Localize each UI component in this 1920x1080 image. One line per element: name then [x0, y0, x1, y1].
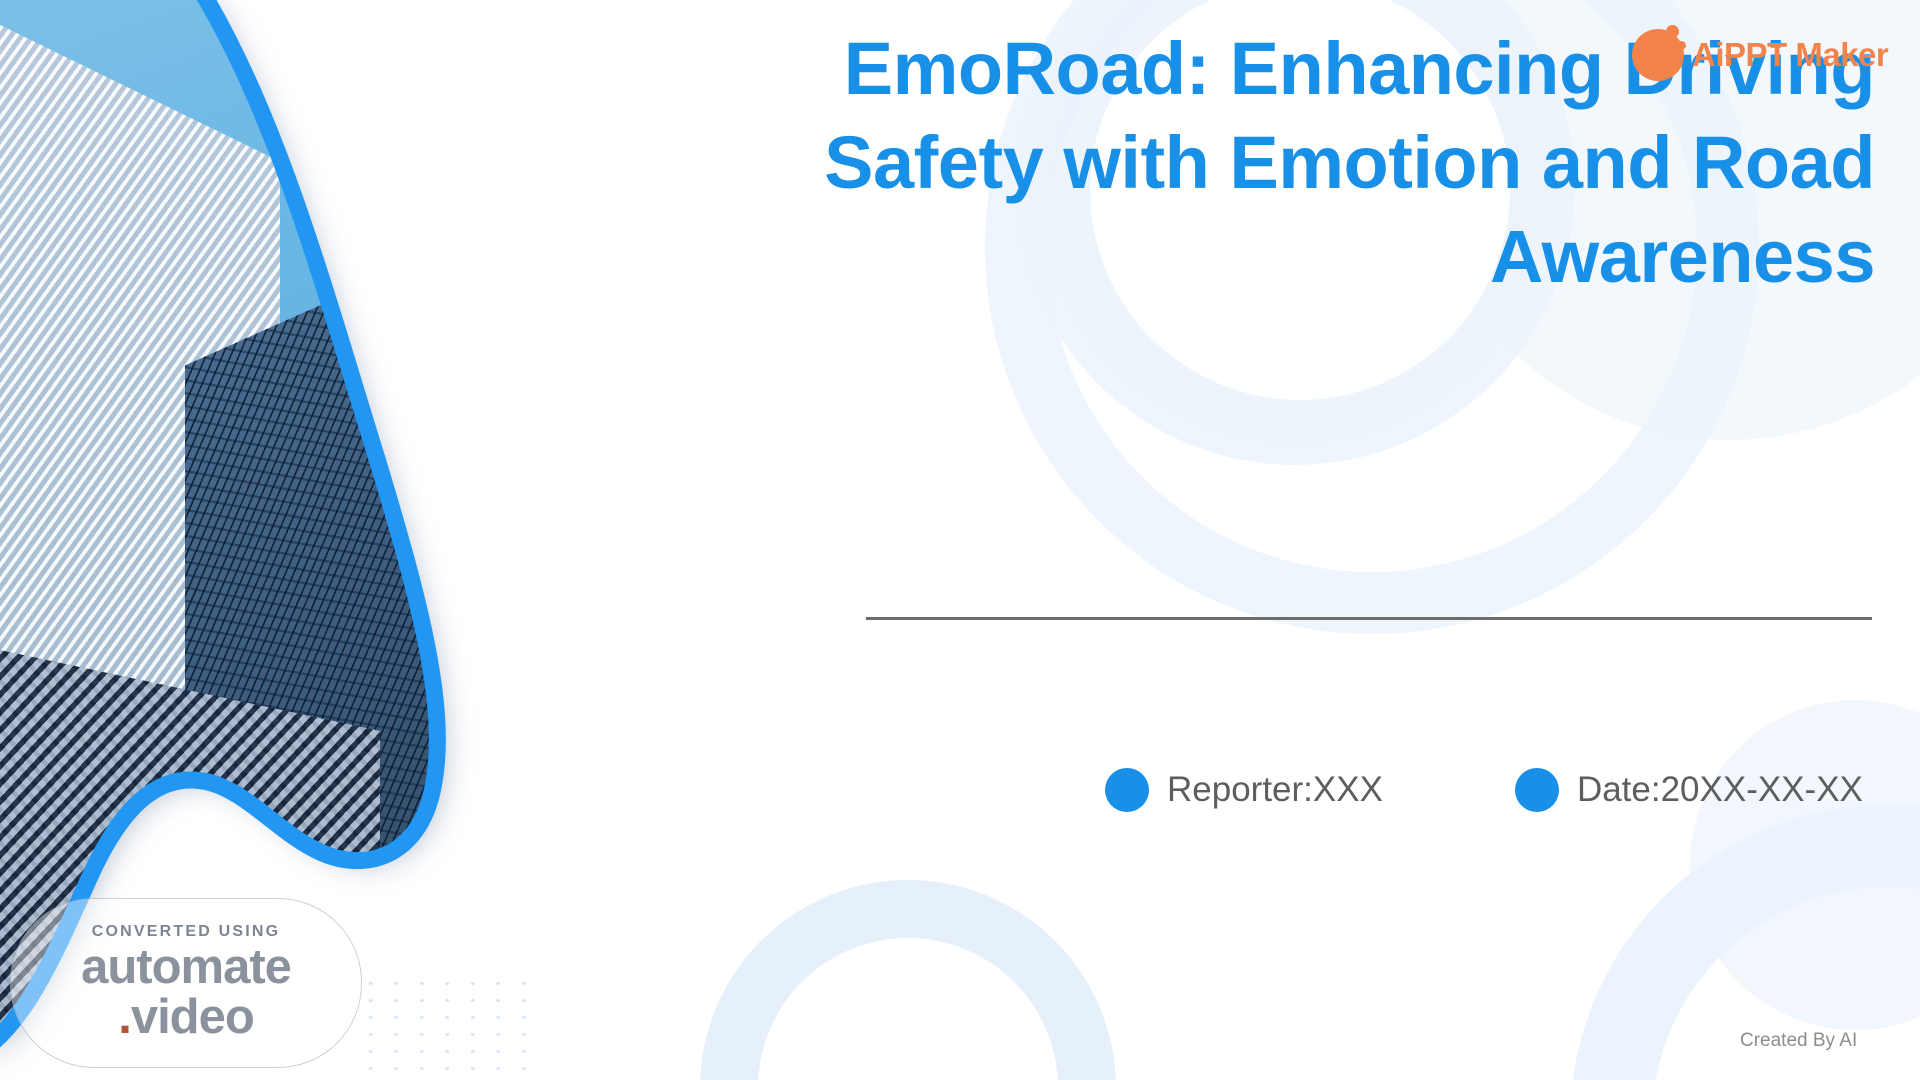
blue-bullet-icon [1105, 768, 1149, 812]
aippt-maker-logo[interactable]: AiPPT Maker [1632, 24, 1912, 86]
reporter-label: Reporter:XXX [1167, 770, 1383, 810]
created-by-label: Created By AI [1740, 1030, 1857, 1052]
automate-video-watermark: CONVERTED USING automate .video [10, 898, 362, 1068]
title-slide: EmoRoad: Enhancing Driving Safety with E… [0, 0, 1920, 1080]
watermark-suffix-text: video [131, 990, 254, 1044]
date-backdrop-blob [1690, 700, 1920, 1030]
orange-circle-dots-icon [1632, 27, 1688, 83]
date-label: Date:20XX-XX-XX [1577, 770, 1863, 810]
date-field: Date:20XX-XX-XX [1515, 768, 1863, 812]
watermark-dot: . [118, 990, 131, 1044]
watermark-caption: CONVERTED USING [92, 923, 281, 941]
logo-label: AiPPT Maker [1692, 36, 1888, 74]
reporter-field: Reporter:XXX [1105, 768, 1383, 812]
blue-bullet-icon [1515, 768, 1559, 812]
presentation-meta: Reporter:XXX Date:20XX-XX-XX [1105, 760, 1895, 820]
bottom-center-ring [700, 880, 1116, 1080]
watermark-brand: automate [81, 943, 291, 991]
watermark-brand-suffix: .video [118, 991, 254, 1043]
divider-line [866, 617, 1872, 620]
